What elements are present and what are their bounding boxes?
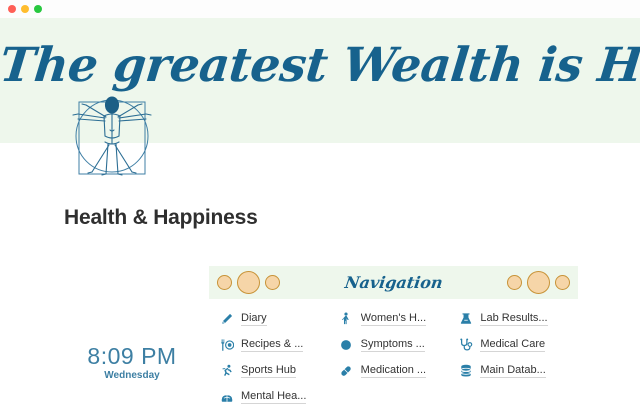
nav-item-label: Lab Results... bbox=[480, 312, 547, 326]
bubble-group-left bbox=[217, 271, 280, 294]
runner-icon bbox=[219, 364, 234, 379]
page-title: Health & Happiness bbox=[64, 206, 258, 230]
nav-item-medical-care[interactable]: Medical Care bbox=[458, 334, 578, 356]
nav-item-label: Medical Care bbox=[480, 338, 545, 352]
clock-day: Wednesday bbox=[62, 370, 202, 381]
nav-item-medication[interactable]: Medication ... bbox=[339, 360, 459, 382]
minimize-button[interactable] bbox=[21, 5, 29, 13]
window-titlebar bbox=[0, 0, 640, 18]
nav-item-label: Diary bbox=[241, 312, 267, 326]
nav-item-label: Women's H... bbox=[361, 312, 426, 326]
bubble-group-right bbox=[507, 271, 570, 294]
clock-widget: 8:09 PM Wednesday bbox=[62, 344, 202, 381]
nav-item-label: Medication ... bbox=[361, 364, 426, 378]
nav-item-sports-hub[interactable]: Sports Hub bbox=[219, 360, 339, 382]
decorative-bubble-icon bbox=[265, 275, 280, 290]
vitruvian-man-icon bbox=[62, 92, 162, 184]
navigation-title: Navigation bbox=[343, 273, 443, 292]
hero-title: The greatest Wealth is Health bbox=[0, 42, 640, 89]
decorative-bubble-icon bbox=[237, 271, 260, 294]
nav-column-1: Diary Recipes & ... Sports Hub Mental He… bbox=[219, 308, 339, 412]
nav-item-label: Recipes & ... bbox=[241, 338, 303, 352]
decorative-bubble-icon bbox=[217, 275, 232, 290]
brain-icon bbox=[219, 390, 234, 405]
nav-item-label: Main Datab... bbox=[480, 364, 545, 378]
food-icon bbox=[219, 338, 234, 353]
nav-item-label: Symptoms ... bbox=[361, 338, 425, 352]
pencil-icon bbox=[219, 312, 234, 327]
circle-icon bbox=[339, 338, 354, 353]
navigation-header: Navigation bbox=[209, 266, 578, 299]
nav-item-diary[interactable]: Diary bbox=[219, 308, 339, 330]
nav-item-mental-health[interactable]: Mental Hea... bbox=[219, 386, 339, 408]
decorative-bubble-icon bbox=[527, 271, 550, 294]
navigation-body: Diary Recipes & ... Sports Hub Mental He… bbox=[209, 299, 578, 412]
clock-time: 8:09 PM bbox=[62, 344, 202, 368]
nav-item-womens-health[interactable]: Women's H... bbox=[339, 308, 459, 330]
nav-item-symptoms[interactable]: Symptoms ... bbox=[339, 334, 459, 356]
nav-item-recipes[interactable]: Recipes & ... bbox=[219, 334, 339, 356]
database-icon bbox=[458, 364, 473, 379]
pill-icon bbox=[339, 364, 354, 379]
nav-item-main-database[interactable]: Main Datab... bbox=[458, 360, 578, 382]
nav-column-3: Lab Results... Medical Care Main Datab..… bbox=[458, 308, 578, 412]
maximize-button[interactable] bbox=[34, 5, 42, 13]
nav-item-lab-results[interactable]: Lab Results... bbox=[458, 308, 578, 330]
person-icon bbox=[339, 312, 354, 327]
navigation-panel: Navigation Diary Recipes & ... bbox=[209, 266, 578, 412]
close-button[interactable] bbox=[8, 5, 16, 13]
decorative-bubble-icon bbox=[507, 275, 522, 290]
nav-item-label: Sports Hub bbox=[241, 364, 296, 378]
nav-column-2: Women's H... Symptoms ... Medication ... bbox=[339, 308, 459, 412]
nav-item-label: Mental Hea... bbox=[241, 390, 306, 404]
decorative-bubble-icon bbox=[555, 275, 570, 290]
flask-icon bbox=[458, 312, 473, 327]
stethoscope-icon bbox=[458, 338, 473, 353]
